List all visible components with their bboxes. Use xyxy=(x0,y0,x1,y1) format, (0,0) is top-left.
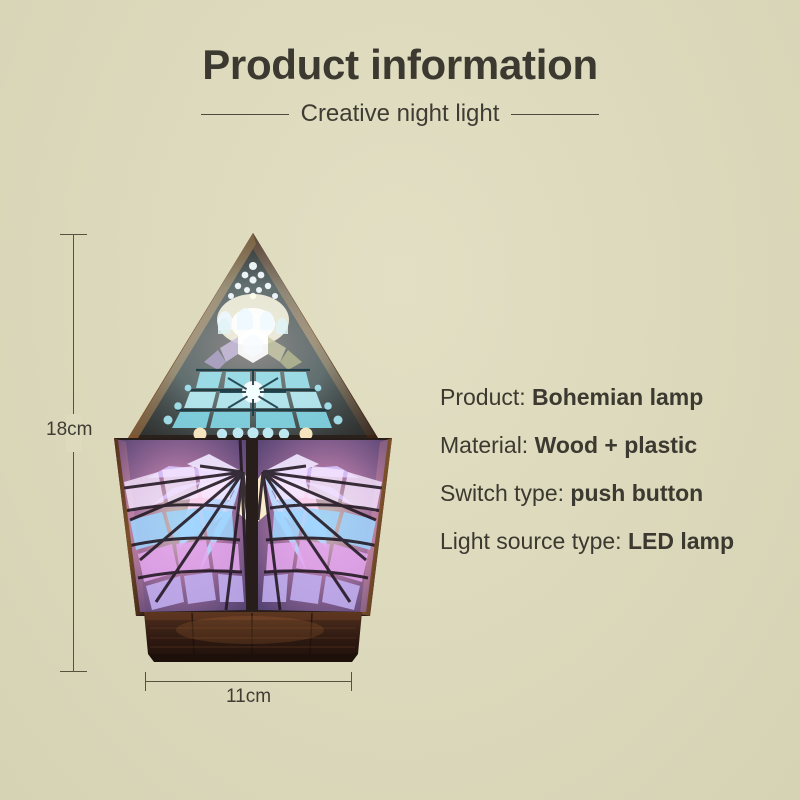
spec-list: Product: Bohemian lamp Material: Wood + … xyxy=(440,386,790,553)
width-dimension-line xyxy=(145,681,352,682)
spec-row-switch-type: Switch type: push button xyxy=(440,482,790,505)
page-title: Product information xyxy=(0,44,800,86)
page-subtitle: Creative night light xyxy=(301,102,500,126)
spec-row-light-source-type: Light source type: LED lamp xyxy=(440,530,790,553)
spec-label-product: Product: xyxy=(440,384,526,410)
spec-label-switch-type: Switch type: xyxy=(440,480,564,506)
spec-value-product: Bohemian lamp xyxy=(532,384,703,410)
height-dimension-line xyxy=(73,234,74,672)
spec-value-material: Wood + plastic xyxy=(535,432,698,458)
spec-value-light-source-type: LED lamp xyxy=(628,528,734,554)
spec-label-light-source-type: Light source type: xyxy=(440,528,622,554)
spec-row-product: Product: Bohemian lamp xyxy=(440,386,790,409)
spec-row-material: Material: Wood + plastic xyxy=(440,434,790,457)
divider-left xyxy=(201,114,289,115)
subtitle-row: Creative night light xyxy=(0,102,800,126)
spec-label-material: Material: xyxy=(440,432,528,458)
header: Product information Creative night light xyxy=(0,44,800,126)
width-dimension-label: 11cm xyxy=(145,687,352,706)
product-image xyxy=(100,220,400,670)
spec-value-switch-type: push button xyxy=(570,480,703,506)
page-background: Product information Creative night light xyxy=(0,0,800,800)
divider-right xyxy=(511,114,599,115)
height-dimension-label: 18cm xyxy=(46,420,92,439)
